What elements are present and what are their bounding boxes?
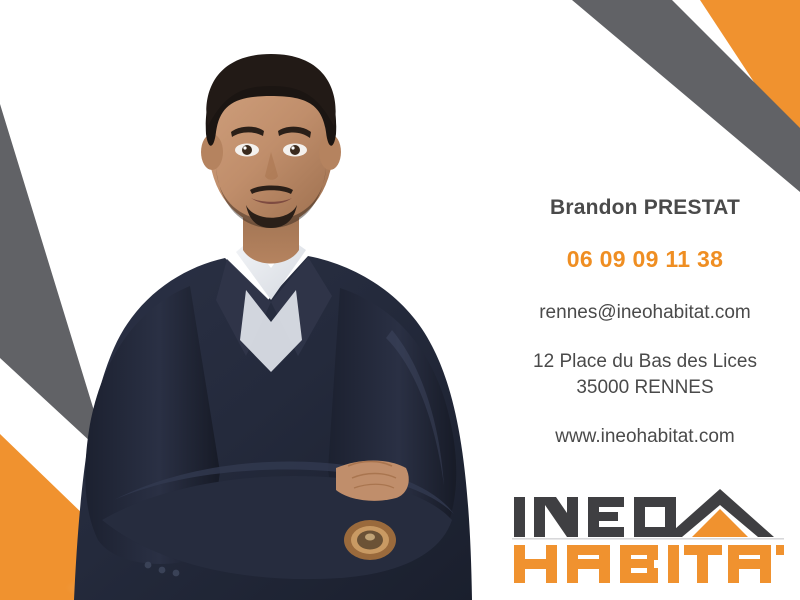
pupil-right [290, 145, 300, 155]
logo-word-ineo [514, 497, 676, 537]
contact-address-line2: 35000 RENNES [500, 375, 790, 401]
hand [336, 461, 409, 501]
contact-address-line1: 12 Place du Bas des Lices [500, 349, 790, 375]
business-card: Brandon PRESTAT 06 09 09 11 38 rennes@in… [0, 0, 800, 600]
logo-word-habitat [514, 545, 784, 583]
contact-phone[interactable]: 06 09 09 11 38 [500, 247, 790, 272]
wristwatch [344, 520, 396, 560]
roof-peak-icon [666, 489, 774, 537]
portrait-photo [40, 0, 510, 600]
contact-address: 12 Place du Bas des Lices 35000 RENNES [500, 349, 790, 400]
logo-divider [512, 538, 784, 540]
pupil-left [242, 145, 252, 155]
contact-name: Brandon PRESTAT [500, 196, 790, 219]
ineo-habitat-logo[interactable]: INEO HABITAT [512, 485, 784, 585]
contact-email[interactable]: rennes@ineohabitat.com [500, 302, 790, 324]
pupil-left-highlight [243, 146, 246, 149]
contact-details: Brandon PRESTAT 06 09 09 11 38 rennes@in… [500, 196, 790, 447]
portrait-illustration [40, 0, 510, 600]
pupil-right-highlight [291, 146, 294, 149]
logo-svg [512, 485, 784, 585]
contact-website[interactable]: www.ineohabitat.com [500, 426, 790, 448]
